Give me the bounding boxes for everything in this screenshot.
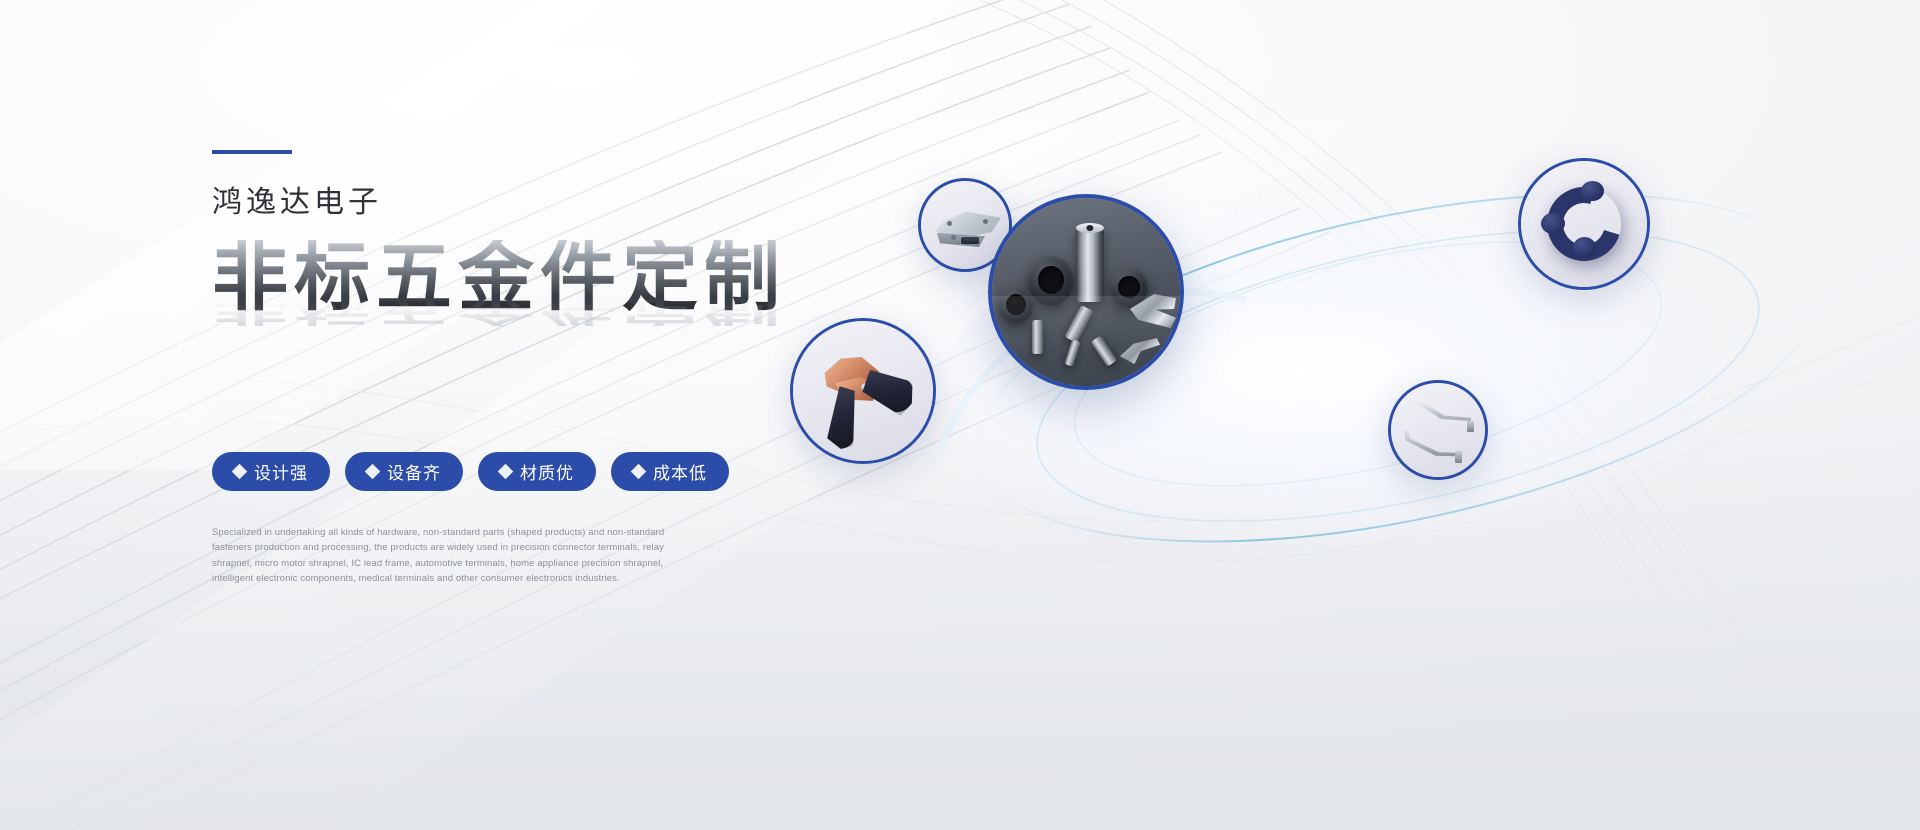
badge-material[interactable]: 材质优 — [478, 452, 596, 491]
machined-parts-art — [992, 198, 1180, 386]
brand-name: 鸿逸达电子 — [212, 188, 852, 218]
product-gallery — [900, 150, 1900, 570]
part-black-bushing — [1028, 256, 1074, 306]
company-description: Specialized in undertaking all kinds of … — [212, 525, 682, 587]
badge-equipment[interactable]: 设备齐 — [345, 452, 463, 491]
part-tall-cylinder — [1076, 228, 1104, 302]
enclosure-screw — [983, 219, 988, 224]
bubble-precision-machined-parts[interactable] — [988, 194, 1184, 390]
part-elbow-fitting — [1091, 335, 1118, 367]
badge-design[interactable]: 设计强 — [212, 452, 330, 491]
wire-bracket-lower — [1403, 427, 1459, 457]
enclosure-connector-port — [961, 237, 979, 244]
wire-bracket-art — [1391, 383, 1485, 477]
headline-reflection: 非标五金件定制 — [212, 294, 786, 326]
feature-badges: 设计强 设备齐 材质优 成本低 — [212, 452, 852, 491]
hero-banner: 鸿逸达电子 非标五金件定制 非标五金件定制 设计强 设备齐 材质优 成本低 — [0, 0, 1920, 830]
diamond-icon — [232, 464, 248, 480]
retaining-ring-art — [1521, 161, 1647, 287]
badge-label: 设计强 — [254, 459, 308, 484]
badge-label: 设备齐 — [387, 459, 441, 484]
retaining-ring-lug — [1573, 237, 1596, 258]
part-pin-stud — [1032, 320, 1043, 354]
retaining-ring-lug — [1581, 181, 1604, 201]
wire-bracket-lower-tip — [1455, 451, 1462, 463]
part-hook-bracket — [1120, 338, 1160, 364]
part-forked-lever — [1130, 294, 1176, 328]
hero-text-block: 鸿逸达电子 非标五金件定制 非标五金件定制 设计强 设备齐 材质优 成本低 — [212, 150, 852, 587]
enclosure-screw — [947, 221, 952, 226]
diamond-icon — [365, 464, 381, 480]
part-small-stud — [1064, 339, 1081, 367]
headline-wrapper: 非标五金件定制 非标五金件定制 — [212, 240, 852, 360]
badge-cost[interactable]: 成本低 — [611, 452, 729, 491]
wire-bracket-upper — [1415, 401, 1471, 429]
retaining-ring-lug — [1541, 213, 1565, 234]
badge-label: 成本低 — [653, 459, 707, 484]
enclosure-screw — [951, 235, 956, 240]
part-socket-adapter — [1110, 268, 1148, 308]
badge-label: 材质优 — [520, 459, 574, 484]
part-spark-plug — [1064, 305, 1093, 343]
bubble-bent-wire-brackets[interactable] — [1388, 380, 1488, 480]
bubble-retaining-ring[interactable] — [1518, 158, 1650, 290]
part-flanged-hub — [998, 286, 1034, 324]
diamond-icon — [498, 464, 514, 480]
diamond-icon — [631, 464, 647, 480]
accent-rule — [212, 150, 292, 154]
wire-bracket-upper-tip — [1467, 421, 1474, 432]
